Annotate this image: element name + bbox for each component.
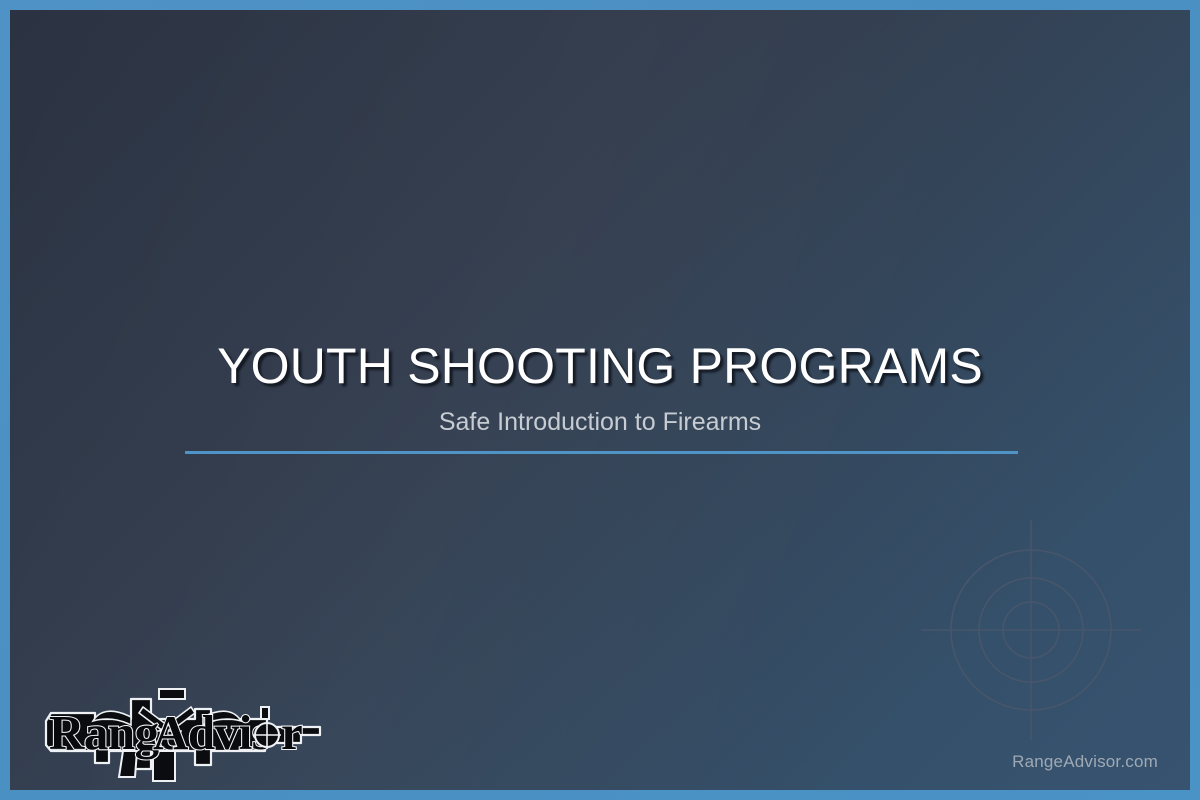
- presentation-slide: YOUTH SHOOTING PROGRAMS Safe Introductio…: [0, 0, 1200, 800]
- brand-logo[interactable]: Range Advis r: [35, 673, 325, 785]
- crosshair-target-icon: [921, 520, 1141, 740]
- page-title: YOUTH SHOOTING PROGRAMS: [10, 340, 1190, 393]
- page-subtitle: Safe Introduction to Firearms: [10, 409, 1190, 437]
- logo-wordmark-part2: Advis: [153, 705, 270, 760]
- title-divider: [185, 451, 1018, 454]
- title-block: YOUTH SHOOTING PROGRAMS Safe Introductio…: [10, 340, 1190, 437]
- logo-wordmark-part3: r: [281, 705, 302, 760]
- footer-url: RangeAdvisor.com: [1012, 752, 1158, 772]
- slide-canvas: YOUTH SHOOTING PROGRAMS Safe Introductio…: [10, 10, 1190, 790]
